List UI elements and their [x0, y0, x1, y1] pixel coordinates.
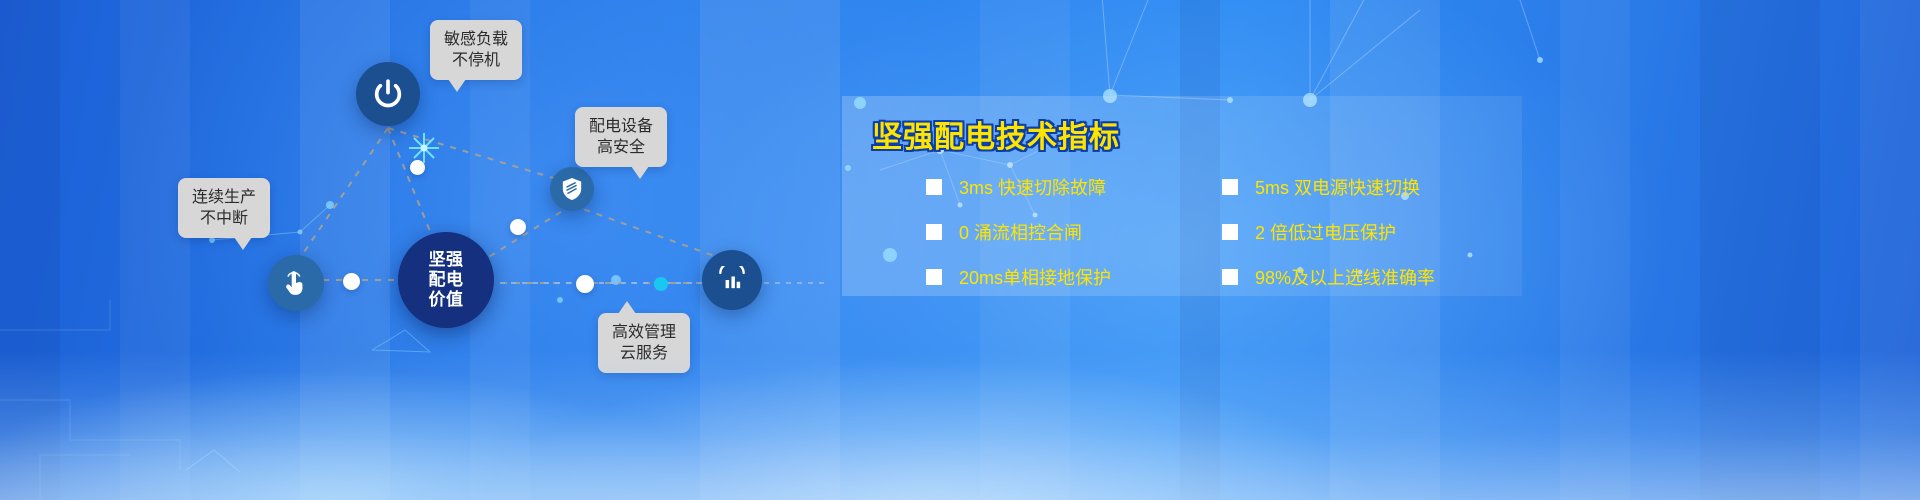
callout-distribution-safety: 配电设备 高安全 [575, 107, 667, 167]
spec-label: 98%及以上选线准确率 [1255, 264, 1435, 290]
connector-dot [576, 275, 594, 293]
bar-chart-icon [718, 266, 746, 294]
diagram-hub: 坚强 配电 价值 [398, 232, 494, 328]
tech-spec-panel: 坚强配电技术指标 3ms 快速切除故障 5ms 双电源快速切换 0 涌流相控合闸… [842, 96, 1522, 296]
hand-touch-icon [283, 269, 309, 297]
value-network-diagram: 坚强 配电 价值 敏感负载 不停机 配电设备 高安全 [0, 0, 830, 500]
spec-item: 98%及以上选线准确率 [1222, 264, 1526, 290]
callout-line: 配电设备 [589, 116, 653, 137]
callout-line: 高效管理 [612, 322, 676, 343]
bullet-square-icon [1222, 269, 1238, 285]
callout-line: 连续生产 [192, 187, 256, 208]
connector-dot [410, 160, 425, 175]
callout-line: 高安全 [589, 137, 653, 158]
shield-icon [561, 177, 583, 201]
spec-label: 20ms单相接地保护 [959, 264, 1111, 290]
spec-item: 0 涌流相控合闸 [926, 219, 1222, 245]
spec-label: 5ms 双电源快速切换 [1255, 174, 1420, 200]
bullet-square-icon [1222, 224, 1238, 240]
connector-dot [654, 277, 668, 291]
spec-item: 5ms 双电源快速切换 [1222, 174, 1526, 200]
hub-label: 坚强 配电 价值 [429, 250, 464, 310]
connector-dot [510, 219, 526, 235]
spec-item: 3ms 快速切除故障 [926, 174, 1222, 200]
callout-sensitive-load: 敏感负载 不停机 [430, 20, 522, 80]
callout-line: 云服务 [612, 343, 676, 364]
node-chart[interactable] [702, 250, 762, 310]
node-touch[interactable] [268, 255, 324, 311]
spec-list: 3ms 快速切除故障 5ms 双电源快速切换 0 涌流相控合闸 2 倍低过电压保… [926, 174, 1526, 290]
callout-cloud-management: 高效管理 云服务 [598, 313, 690, 373]
bullet-square-icon [926, 179, 942, 195]
promo-banner: 坚强 配电 价值 敏感负载 不停机 配电设备 高安全 [0, 0, 1920, 500]
spec-label: 3ms 快速切除故障 [959, 174, 1106, 200]
node-shield[interactable] [550, 167, 594, 211]
spec-item: 2 倍低过电压保护 [1222, 219, 1526, 245]
panel-title: 坚强配电技术指标 [872, 112, 1120, 156]
callout-line: 不中断 [192, 208, 256, 229]
power-icon [371, 77, 405, 111]
callout-line: 不停机 [444, 50, 508, 71]
spec-label: 2 倍低过电压保护 [1255, 219, 1396, 245]
spec-item: 20ms单相接地保护 [926, 264, 1222, 290]
callout-continuous-production: 连续生产 不中断 [178, 178, 270, 238]
callout-line: 敏感负载 [444, 29, 508, 50]
bullet-square-icon [926, 224, 942, 240]
spec-label: 0 涌流相控合闸 [959, 219, 1082, 245]
connector-dot [343, 273, 360, 290]
bullet-square-icon [1222, 179, 1238, 195]
bullet-square-icon [926, 269, 942, 285]
node-power[interactable] [356, 62, 420, 126]
